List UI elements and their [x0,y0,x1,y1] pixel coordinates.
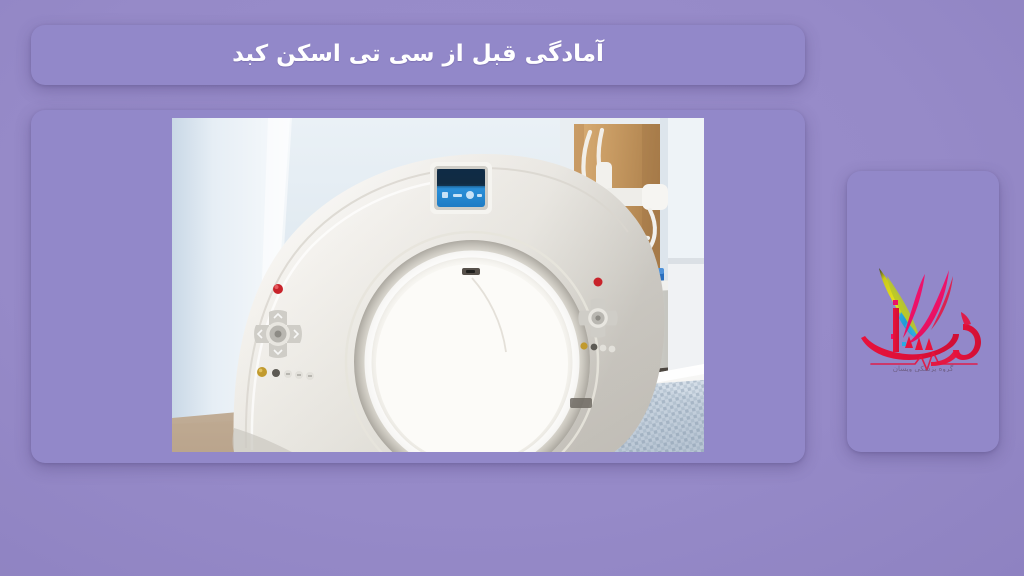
logo-subtitle: گروه پزشکی ویسان [893,364,954,372]
visan-logo-graphic: گروه پزشکی ویسان [853,252,993,372]
visan-logo: گروه پزشکی ویسان [853,252,993,372]
ct-scan-photo [172,118,704,452]
gantry-display [430,162,492,214]
page-title: آمادگی قبل از سی تی اسکن کبد [232,41,604,69]
logo-bird-icon [879,268,953,346]
ct-scan-illustration [172,118,704,452]
content-card [31,110,805,463]
title-bar: آمادگی قبل از سی تی اسکن کبد [31,25,805,85]
logo-card: گروه پزشکی ویسان [847,171,999,452]
slide-canvas: آمادگی قبل از سی تی اسکن کبد [0,0,1024,576]
